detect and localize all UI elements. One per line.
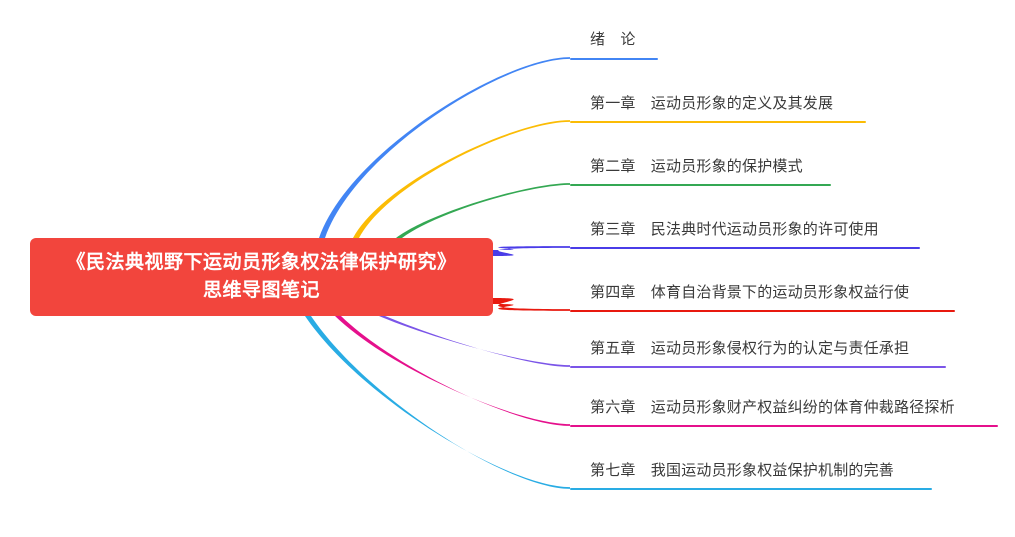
topic-chapter-2[interactable]: 第二章 运动员形象的保护模式 bbox=[588, 159, 805, 179]
mindmap-canvas: 《民法典视野下运动员形象权法律保护研究》 思维导图笔记 绪 论第一章 运动员形象… bbox=[0, 0, 1015, 537]
topic-underline-chapter-3 bbox=[570, 247, 920, 249]
topic-chapter-6[interactable]: 第六章 运动员形象财产权益纠纷的体育仲裁路径探析 bbox=[588, 400, 957, 420]
branch-connector-chapter-3 bbox=[493, 246, 570, 256]
topic-underline-chapter-7 bbox=[570, 488, 932, 490]
central-topic-label: 《民法典视野下运动员形象权法律保护研究》 思维导图笔记 bbox=[66, 249, 456, 304]
topic-preface[interactable]: 绪 论 bbox=[588, 32, 638, 52]
topic-chapter-5[interactable]: 第五章 运动员形象侵权行为的认定与责任承担 bbox=[588, 341, 911, 361]
topic-underline-chapter-5 bbox=[570, 366, 946, 368]
branch-connector-chapter-5 bbox=[379, 316, 570, 367]
topic-underline-chapter-1 bbox=[570, 121, 866, 123]
topic-chapter-3[interactable]: 第三章 民法典时代运动员形象的许可使用 bbox=[588, 222, 881, 242]
topic-label-chapter-3: 第三章 民法典时代运动员形象的许可使用 bbox=[588, 222, 881, 242]
central-topic-node[interactable]: 《民法典视野下运动员形象权法律保护研究》 思维导图笔记 bbox=[30, 238, 493, 316]
topic-label-chapter-4: 第四章 体育自治背景下的运动员形象权益行使 bbox=[588, 285, 911, 305]
branch-connector-preface bbox=[319, 57, 570, 238]
branch-connector-chapter-4 bbox=[493, 298, 570, 311]
topic-underline-chapter-2 bbox=[570, 184, 831, 186]
topic-underline-chapter-6 bbox=[570, 425, 998, 427]
topic-label-chapter-1: 第一章 运动员形象的定义及其发展 bbox=[588, 96, 835, 116]
topic-label-chapter-5: 第五章 运动员形象侵权行为的认定与责任承担 bbox=[588, 341, 911, 361]
topic-chapter-7[interactable]: 第七章 我国运动员形象权益保护机制的完善 bbox=[588, 463, 896, 483]
topic-underline-preface bbox=[570, 58, 658, 60]
branch-connector-chapter-7 bbox=[305, 316, 570, 489]
topic-label-chapter-6: 第六章 运动员形象财产权益纠纷的体育仲裁路径探析 bbox=[588, 400, 957, 420]
topic-label-chapter-2: 第二章 运动员形象的保护模式 bbox=[588, 159, 805, 179]
topic-chapter-4[interactable]: 第四章 体育自治背景下的运动员形象权益行使 bbox=[588, 285, 911, 305]
topic-label-preface: 绪 论 bbox=[588, 32, 638, 52]
branch-connector-chapter-6 bbox=[335, 316, 570, 426]
branch-connector-chapter-2 bbox=[396, 183, 570, 238]
topic-chapter-1[interactable]: 第一章 运动员形象的定义及其发展 bbox=[588, 96, 835, 116]
topic-underline-chapter-4 bbox=[570, 310, 955, 312]
topic-label-chapter-7: 第七章 我国运动员形象权益保护机制的完善 bbox=[588, 463, 896, 483]
branch-connector-chapter-1 bbox=[353, 120, 570, 238]
